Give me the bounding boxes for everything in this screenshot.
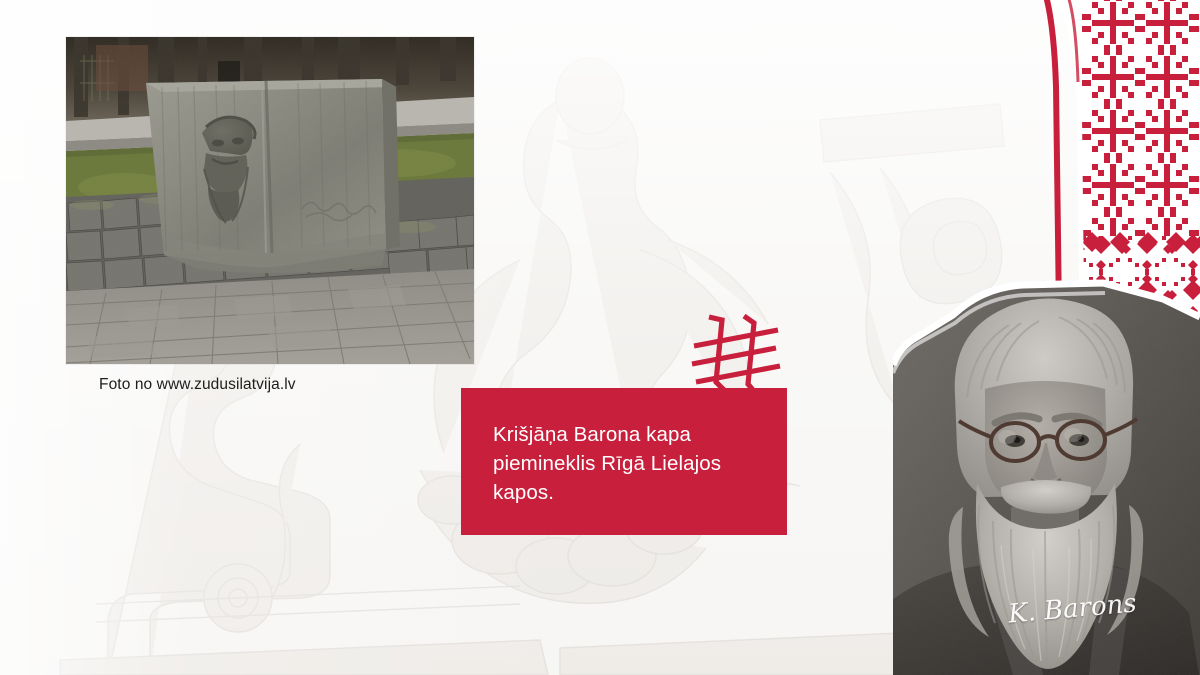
caption-box-text: Krišjāņa Barona kapa piemineklis Rīgā Li… <box>493 420 757 507</box>
monument-photo <box>66 37 474 364</box>
slide-canvas: Foto no www.zudusilatvija.lv Krišjāņa Ba… <box>0 0 1200 675</box>
caption-box: Krišjāņa Barona kapa piemineklis Rīgā Li… <box>461 388 787 535</box>
portrait-krisjanis-barons <box>893 277 1200 675</box>
photo-caption: Foto no www.zudusilatvija.lv <box>99 375 296 395</box>
